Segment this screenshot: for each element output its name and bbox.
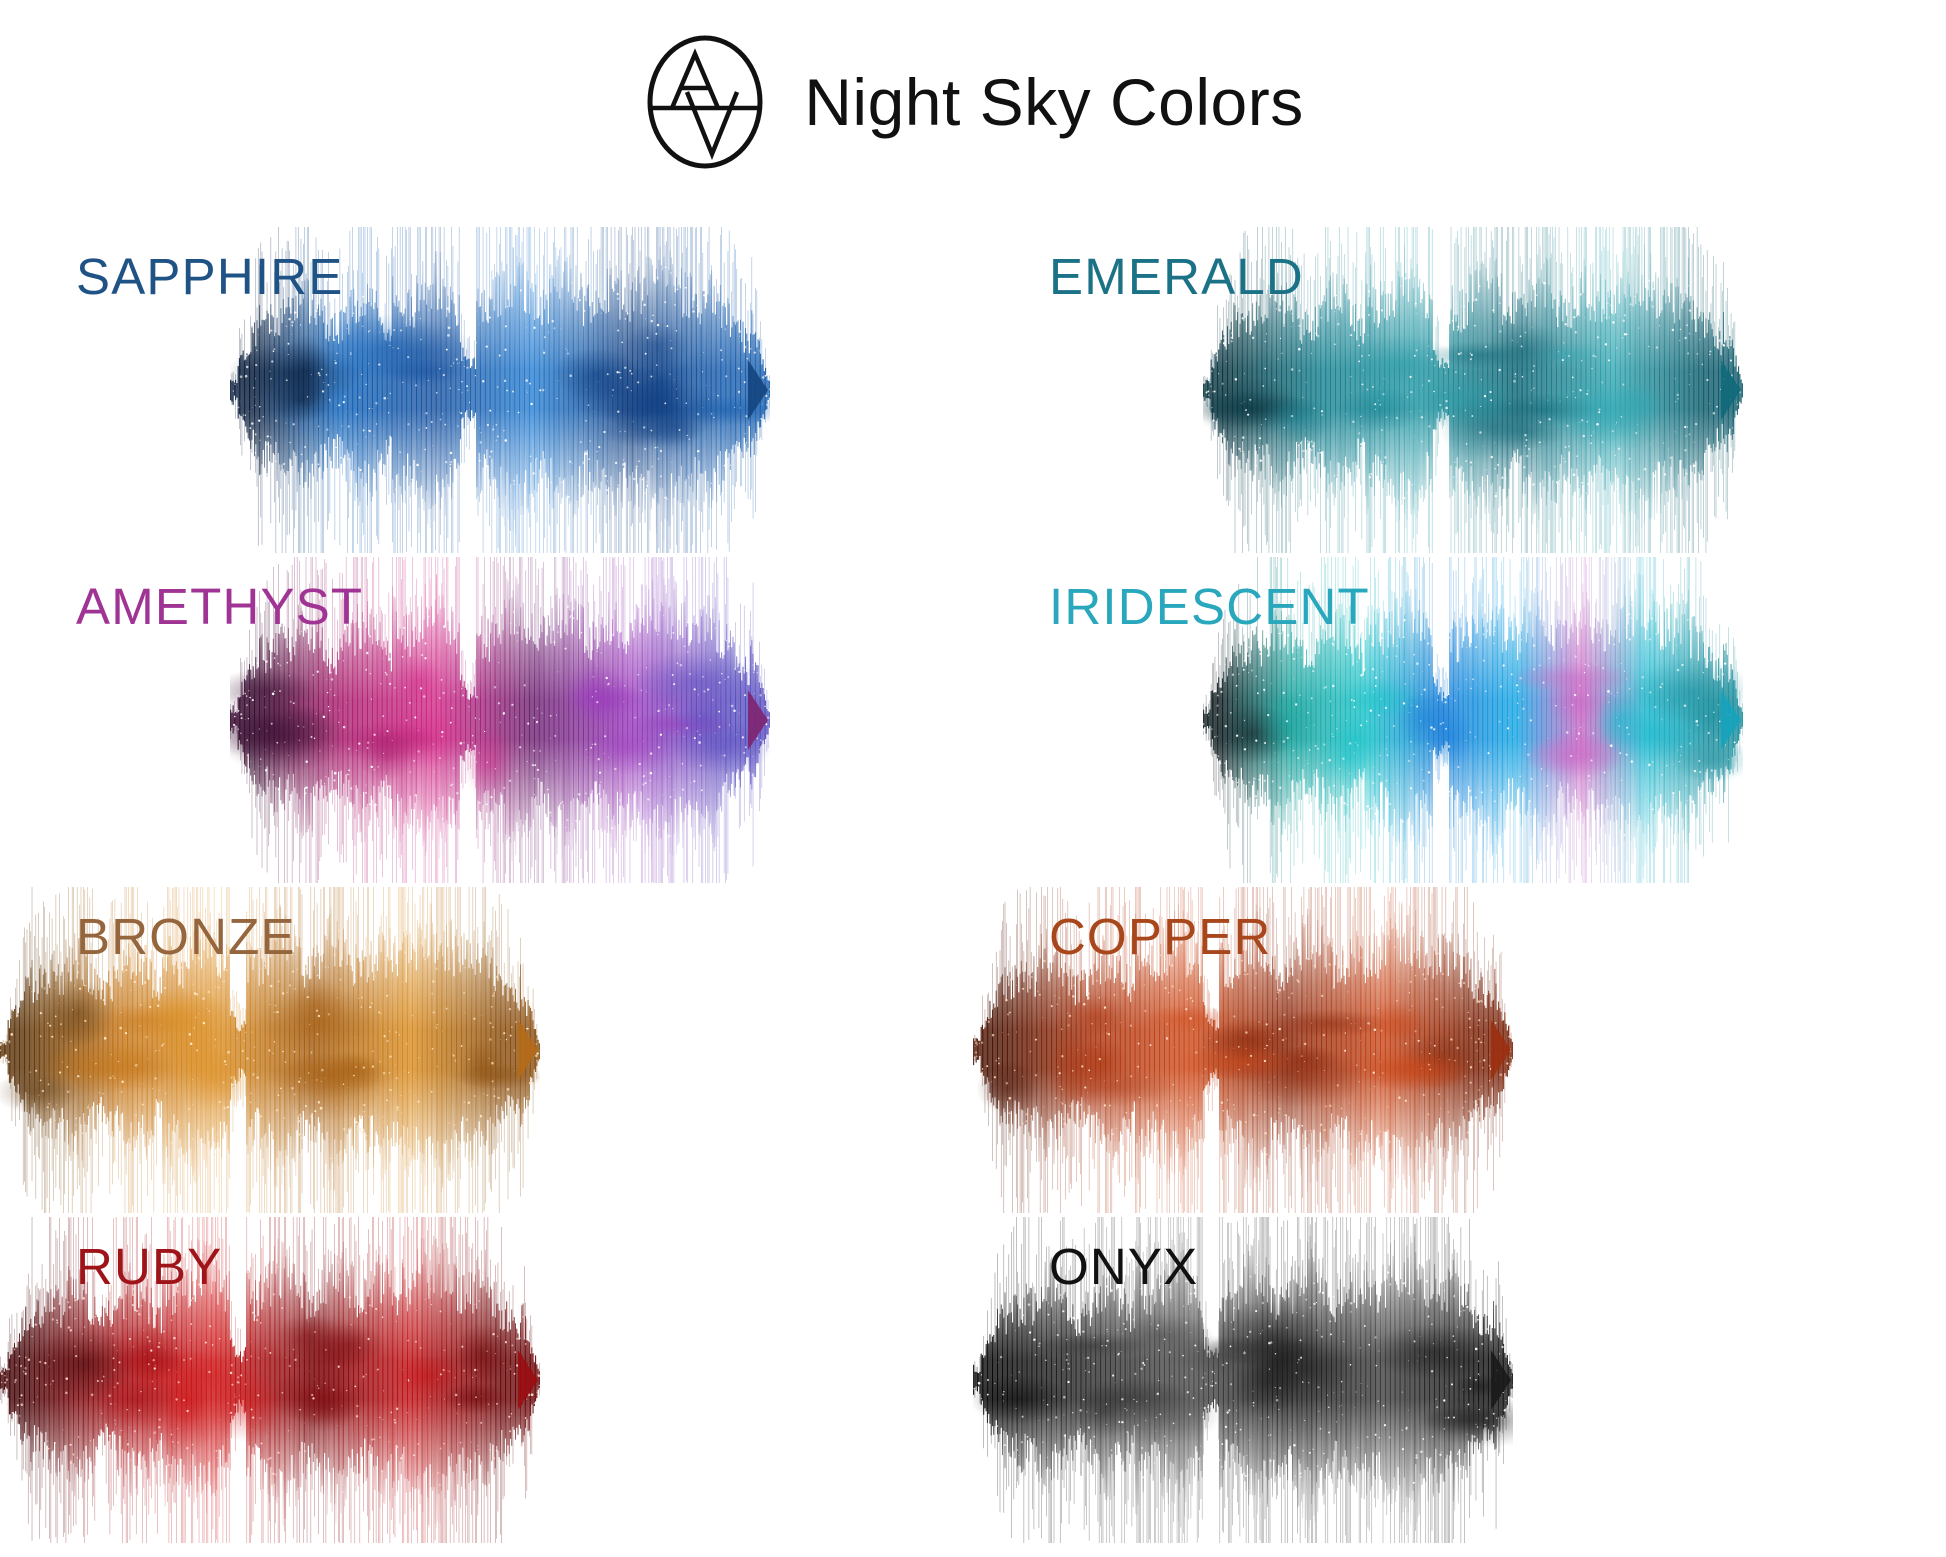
swatch-copper[interactable]: COPPER: [973, 885, 1946, 1215]
swatch-emerald[interactable]: EMERALD: [973, 225, 1946, 555]
swatch-label-copper: COPPER: [1049, 911, 1272, 962]
color-swatch-grid: SAPPHIREEMERALDAMETHYSTIRIDESCENTBRONZEC…: [0, 225, 1946, 1545]
swatch-ruby[interactable]: RUBY: [0, 1215, 973, 1545]
swatch-iridescent[interactable]: IRIDESCENT: [973, 555, 1946, 885]
swatch-bronze[interactable]: BRONZE: [0, 885, 973, 1215]
av-monogram-circle-logo: [642, 32, 768, 172]
swatch-amethyst[interactable]: AMETHYST: [0, 555, 973, 885]
swatch-label-amethyst: AMETHYST: [76, 581, 363, 632]
swatch-label-sapphire: SAPPHIRE: [76, 251, 344, 302]
swatch-label-ruby: RUBY: [76, 1241, 223, 1292]
swatch-onyx[interactable]: ONYX: [973, 1215, 1946, 1545]
swatch-label-onyx: ONYX: [1049, 1241, 1198, 1292]
swatch-label-iridescent: IRIDESCENT: [1049, 581, 1370, 632]
page-title: Night Sky Colors: [804, 69, 1304, 135]
page-header: Night Sky Colors: [0, 0, 1946, 160]
swatch-label-emerald: EMERALD: [1049, 251, 1304, 302]
swatch-label-bronze: BRONZE: [76, 911, 296, 962]
swatch-sapphire[interactable]: SAPPHIRE: [0, 225, 973, 555]
